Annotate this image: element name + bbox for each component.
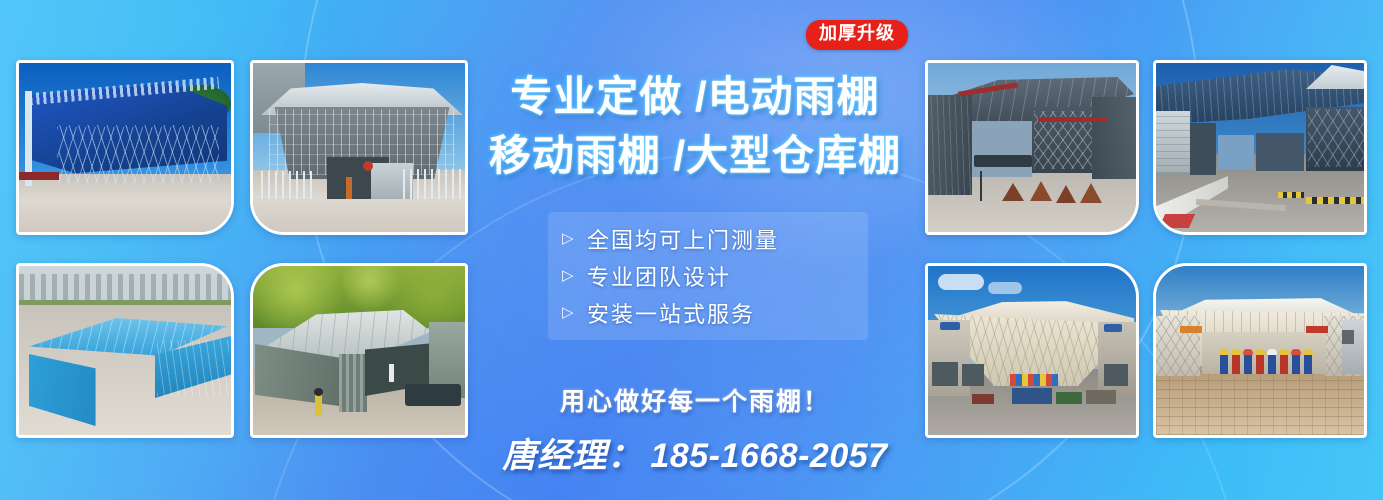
photo-white-canopy-team[interactable] xyxy=(1153,263,1367,438)
triangle-right-icon: ▷ xyxy=(562,231,578,246)
photo-covered-walkway[interactable] xyxy=(1153,60,1367,235)
headline-line-2: 移动雨棚 /大型仓库棚 xyxy=(470,122,920,183)
triangle-right-icon: ▷ xyxy=(562,268,578,283)
triangle-right-icon: ▷ xyxy=(562,305,578,320)
tagline: 用心做好每一个雨棚！ xyxy=(470,382,920,418)
contact-phone-number[interactable]: 185-1668-2057 xyxy=(650,437,887,475)
feature-label: 专业团队设计 xyxy=(587,260,731,292)
headline-line-1: 专业定做 /电动雨棚 xyxy=(470,63,920,124)
feature-label: 安装一站式服务 xyxy=(587,297,755,329)
feature-item-nationwide-measure: ▷ 全国均可上门测量 xyxy=(562,220,868,257)
center-content: 加厚升级 专业定做 /电动雨棚 移动雨棚 /大型仓库棚 ▷ 全国均可上门测量 ▷… xyxy=(470,0,920,500)
photo-green-grey-canopy-trees[interactable] xyxy=(250,263,468,438)
feature-item-professional-design: ▷ 专业团队设计 xyxy=(562,257,868,294)
photo-grey-warehouse-canopy[interactable] xyxy=(250,60,468,235)
photo-lightblue-tunnel-canopy[interactable] xyxy=(16,263,234,438)
upgrade-badge: 加厚升级 xyxy=(806,20,908,50)
feature-item-one-stop-install: ▷ 安装一站式服务 xyxy=(562,294,868,331)
photo-blue-retractable-canopy[interactable] xyxy=(16,60,234,235)
feature-label: 全国均可上门测量 xyxy=(587,223,779,255)
promo-banner: 加厚升级 专业定做 /电动雨棚 移动雨棚 /大型仓库棚 ▷ 全国均可上门测量 ▷… xyxy=(0,0,1383,500)
contact-name: 唐经理： xyxy=(502,437,642,475)
feature-list: ▷ 全国均可上门测量 ▷ 专业团队设计 ▷ 安装一站式服务 xyxy=(548,212,868,340)
photo-white-canopy-factory[interactable] xyxy=(925,263,1139,438)
photo-slate-canopy-yard[interactable] xyxy=(925,60,1139,235)
contact-line[interactable]: 唐经理：185-1668-2057 xyxy=(470,428,920,477)
